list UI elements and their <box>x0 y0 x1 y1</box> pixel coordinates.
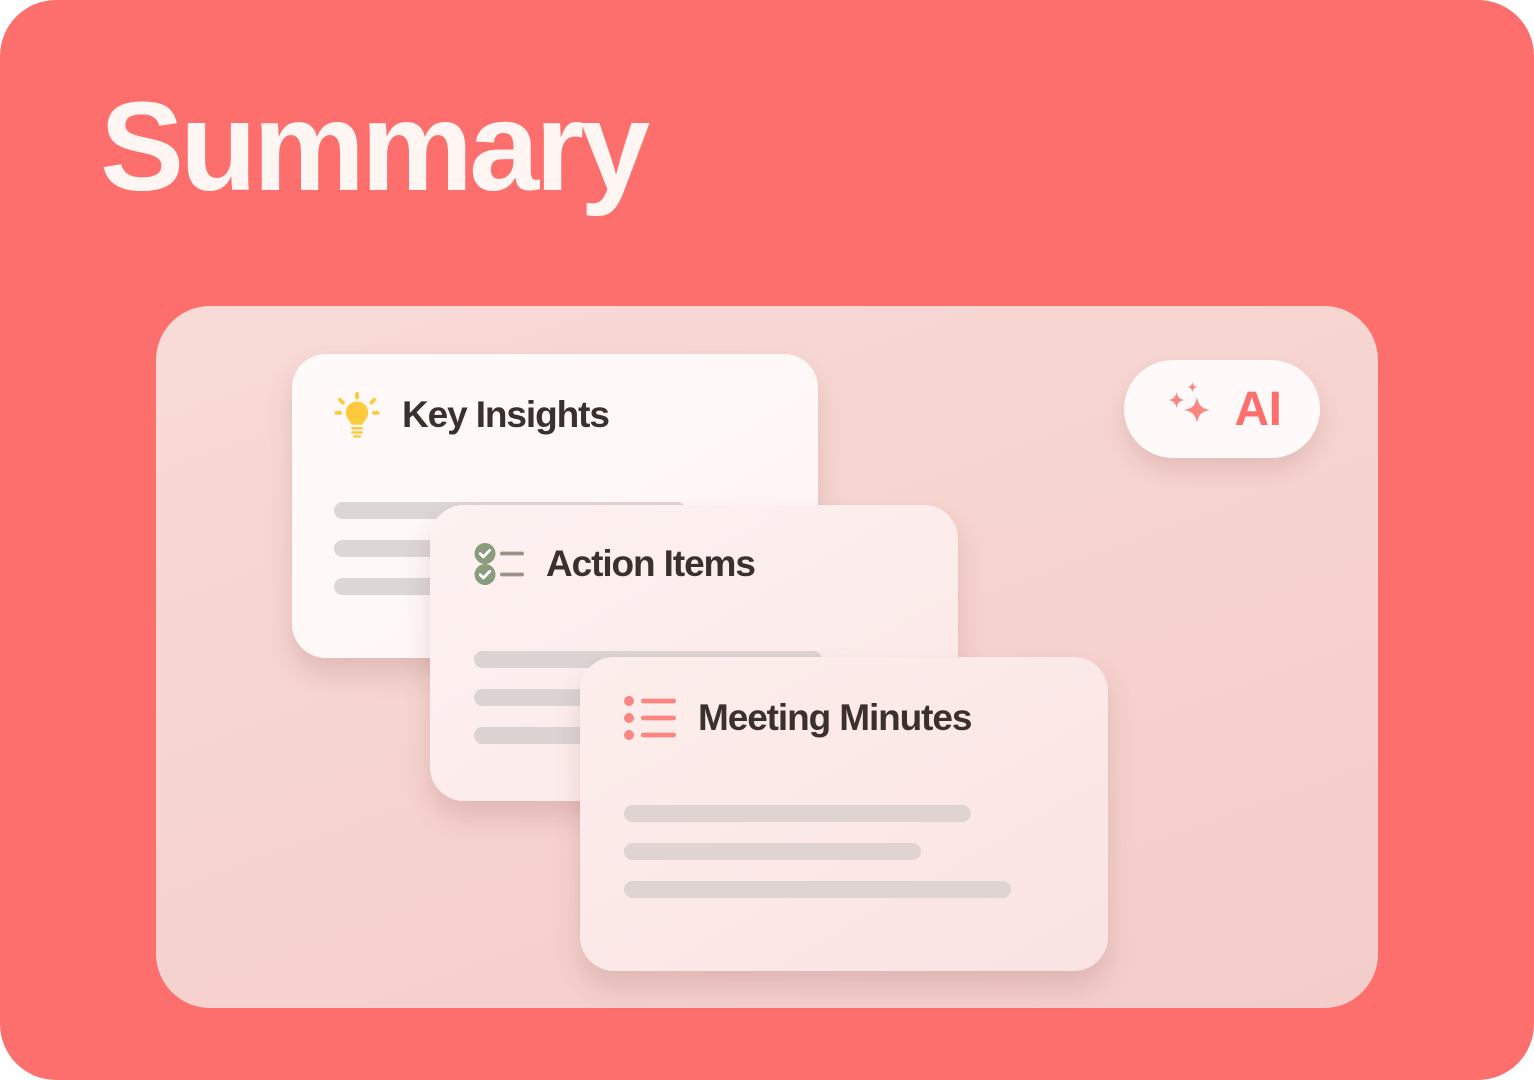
summary-graphic-canvas: Summary <box>0 0 1534 1080</box>
placeholder-line <box>624 843 921 860</box>
lightbulb-icon <box>334 392 380 438</box>
checklist-icon <box>474 543 524 585</box>
placeholder-line <box>624 805 971 822</box>
bullet-list-icon <box>624 695 676 741</box>
ai-badge-label: AI <box>1235 382 1282 437</box>
card-meeting-minutes-header: Meeting Minutes <box>624 695 971 741</box>
placeholder-line <box>624 881 1011 898</box>
card-key-insights-header: Key Insights <box>334 392 609 438</box>
card-meeting-minutes-placeholder-lines <box>624 805 1011 919</box>
card-key-insights-title: Key Insights <box>402 394 609 436</box>
card-meeting-minutes[interactable]: Meeting Minutes <box>580 657 1108 971</box>
summary-panel: Key Insights <box>156 306 1378 1008</box>
card-action-items-header: Action Items <box>474 543 755 585</box>
ai-badge[interactable]: AI <box>1124 360 1320 458</box>
page-title: Summary <box>100 84 646 210</box>
sparkle-icon <box>1163 380 1221 438</box>
card-action-items-title: Action Items <box>546 543 755 585</box>
card-meeting-minutes-title: Meeting Minutes <box>698 697 971 739</box>
